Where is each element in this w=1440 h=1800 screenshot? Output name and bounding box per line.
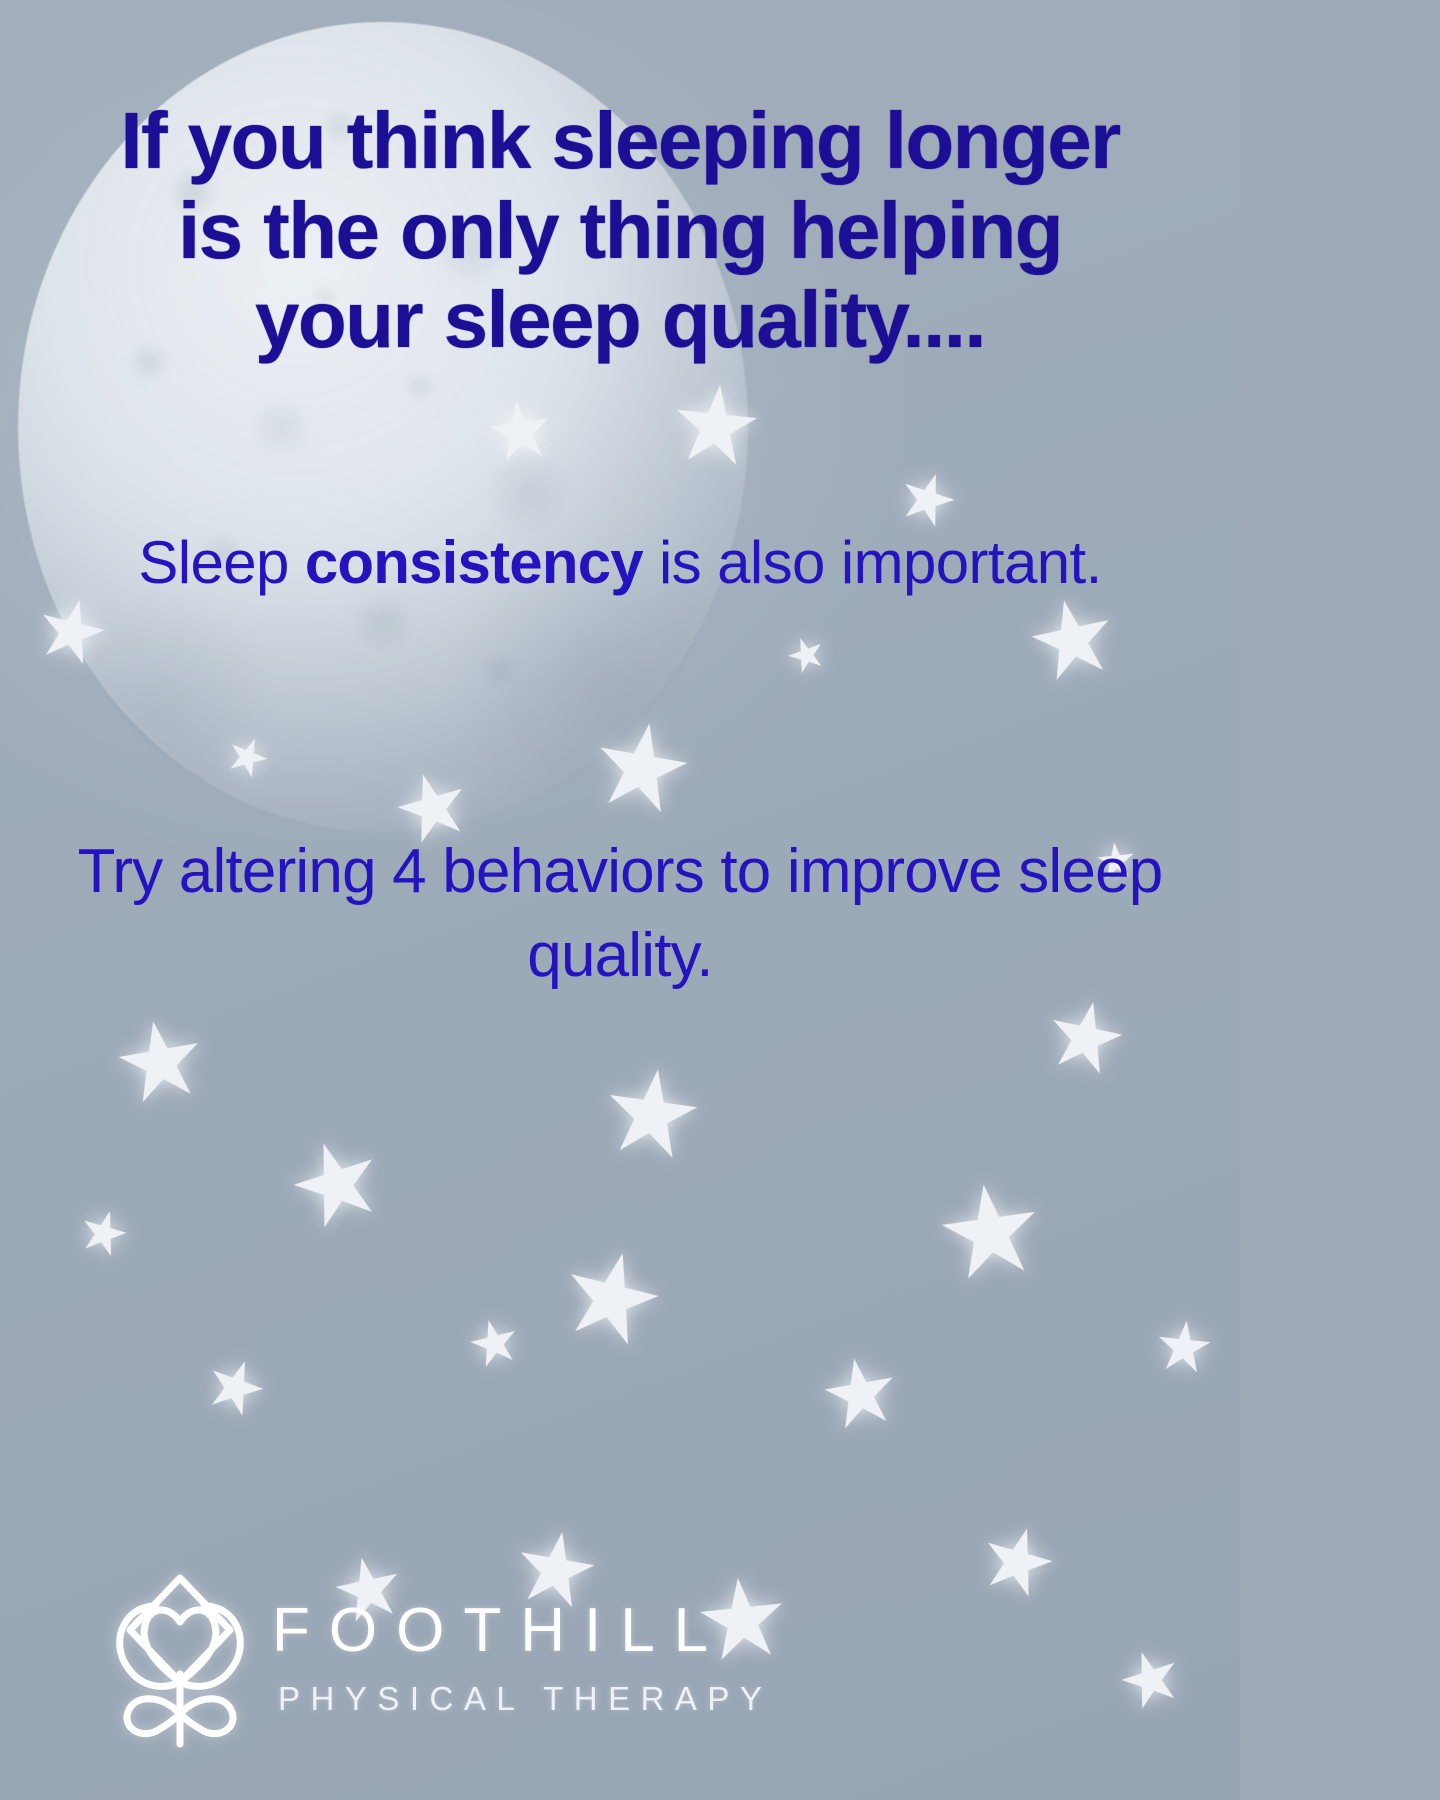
- logo-wordmark: FOOTHILL PHYSICAL THERAPY: [272, 1600, 772, 1721]
- star-icon: [589, 713, 696, 820]
- star-icon: [670, 378, 762, 470]
- star-icon: [222, 730, 274, 782]
- headline-line-3: your sleep quality....: [255, 275, 985, 364]
- star-icon: [282, 1128, 390, 1236]
- subheadline: Sleep consistency is also important.: [0, 524, 1240, 602]
- star-icon: [818, 1350, 901, 1433]
- star-icon: [76, 1204, 133, 1261]
- headline-line-1: If you think sleeping longer: [120, 96, 1119, 185]
- star-icon: [783, 631, 829, 677]
- star-icon: [555, 1239, 669, 1353]
- star-icon: [1154, 1316, 1213, 1375]
- star-icon: [485, 395, 555, 465]
- star-icon: [1023, 589, 1120, 686]
- star-icon: [1042, 992, 1130, 1080]
- page-headline: If you think sleeping longer is the only…: [0, 96, 1240, 365]
- star-icon: [894, 464, 962, 532]
- star-icon: [975, 1517, 1062, 1604]
- star-icon: [111, 1011, 208, 1108]
- sleep-quality-poster: If you think sleeping longer is the only…: [0, 0, 1240, 1800]
- star-icon: [935, 1175, 1046, 1286]
- logo-brand-tagline: PHYSICAL THERAPY: [278, 1682, 772, 1715]
- call-to-action-text: Try altering 4 behaviors to improve slee…: [0, 830, 1240, 997]
- star-icon: [1113, 1641, 1186, 1714]
- subheadline-suffix: is also important.: [643, 529, 1102, 596]
- headline-line-2: is the only thing helping: [178, 186, 1062, 275]
- brand-logo: FOOTHILL PHYSICAL THERAPY: [112, 1568, 772, 1752]
- star-icon: [600, 1060, 704, 1164]
- logo-brand-name: FOOTHILL: [272, 1600, 772, 1662]
- lotus-bloom-mark-icon: [112, 1568, 248, 1752]
- star-icon: [465, 1313, 523, 1371]
- subheadline-prefix: Sleep: [138, 529, 305, 596]
- star-icon: [200, 1350, 272, 1422]
- subheadline-emphasis: consistency: [305, 529, 643, 596]
